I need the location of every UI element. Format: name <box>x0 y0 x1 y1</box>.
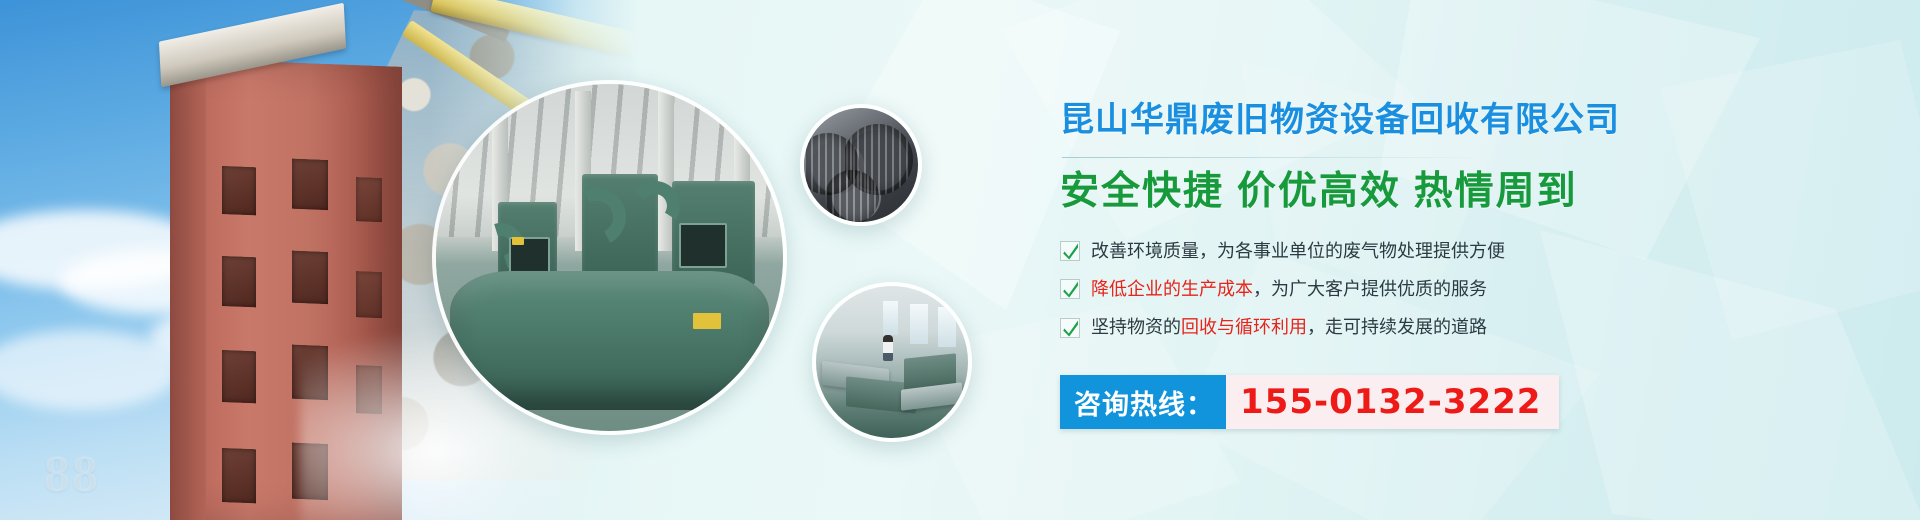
window <box>222 350 256 403</box>
watermark-text: 88 <box>44 445 100 504</box>
list-item-highlight: 回收与循环利用 <box>1181 315 1307 340</box>
check-icon <box>1060 318 1080 338</box>
building-edge <box>170 58 206 520</box>
feature-list: 改善环境质量，为各事业单位的废气物处理提供方便 降低企业的生产成本 ，为广大客户… <box>1060 239 1880 341</box>
check-icon <box>1060 279 1080 299</box>
hotline-number[interactable]: 155-0132-3222 <box>1226 375 1559 429</box>
company-title: 昆山华鼎废旧物资设备回收有限公司 <box>1060 100 1880 141</box>
steel-coils-circle <box>800 104 922 226</box>
list-item-highlight: 降低企业的生产成本 <box>1091 277 1253 302</box>
check-icon <box>1060 241 1080 261</box>
window <box>292 159 328 210</box>
chiller-tank <box>450 271 769 410</box>
hotline-label: 咨询热线： <box>1060 375 1226 429</box>
workshop-window <box>910 304 928 344</box>
list-item-text: ，为广大客户提供优质的服务 <box>1253 277 1487 302</box>
window <box>222 448 256 503</box>
chiller-machinery-circle <box>432 80 787 435</box>
list-item-text: ，走可持续发展的道路 <box>1307 315 1487 340</box>
workshop-window <box>938 307 956 347</box>
control-panel <box>679 223 728 268</box>
slogan: 安全快捷 价优高效 热情周到 <box>1060 168 1880 217</box>
window <box>292 251 328 304</box>
machine-label <box>512 237 524 245</box>
list-item: 降低企业的生产成本 ，为广大客户提供优质的服务 <box>1060 277 1880 302</box>
workshop-interior-circle <box>812 282 972 442</box>
window <box>222 166 256 215</box>
title-divider <box>1062 157 1494 158</box>
hotline-banner[interactable]: 咨询热线： 155-0132-3222 <box>1060 375 1559 429</box>
banner-content: 昆山华鼎废旧物资设备回收有限公司 安全快捷 价优高效 热情周到 改善环境质量，为… <box>1060 100 1880 429</box>
steel-coil <box>825 170 880 225</box>
steel-coils-photo <box>804 108 918 222</box>
chiller-photo <box>436 84 783 431</box>
promotional-banner: 88 <box>0 0 1920 520</box>
list-item-text: 坚持物资的 <box>1091 315 1181 340</box>
list-item-text: 改善环境质量，为各事业单位的废气物处理提供方便 <box>1091 239 1505 264</box>
window <box>222 256 256 307</box>
list-item: 改善环境质量，为各事业单位的废气物处理提供方便 <box>1060 239 1880 264</box>
workshop-photo <box>816 286 968 438</box>
window <box>356 271 382 318</box>
list-item: 坚持物资的 回收与循环利用 ，走可持续发展的道路 <box>1060 315 1880 340</box>
machine-label <box>693 313 721 329</box>
window <box>356 177 382 222</box>
workshop-window <box>883 301 898 334</box>
worker-figure <box>883 335 893 361</box>
